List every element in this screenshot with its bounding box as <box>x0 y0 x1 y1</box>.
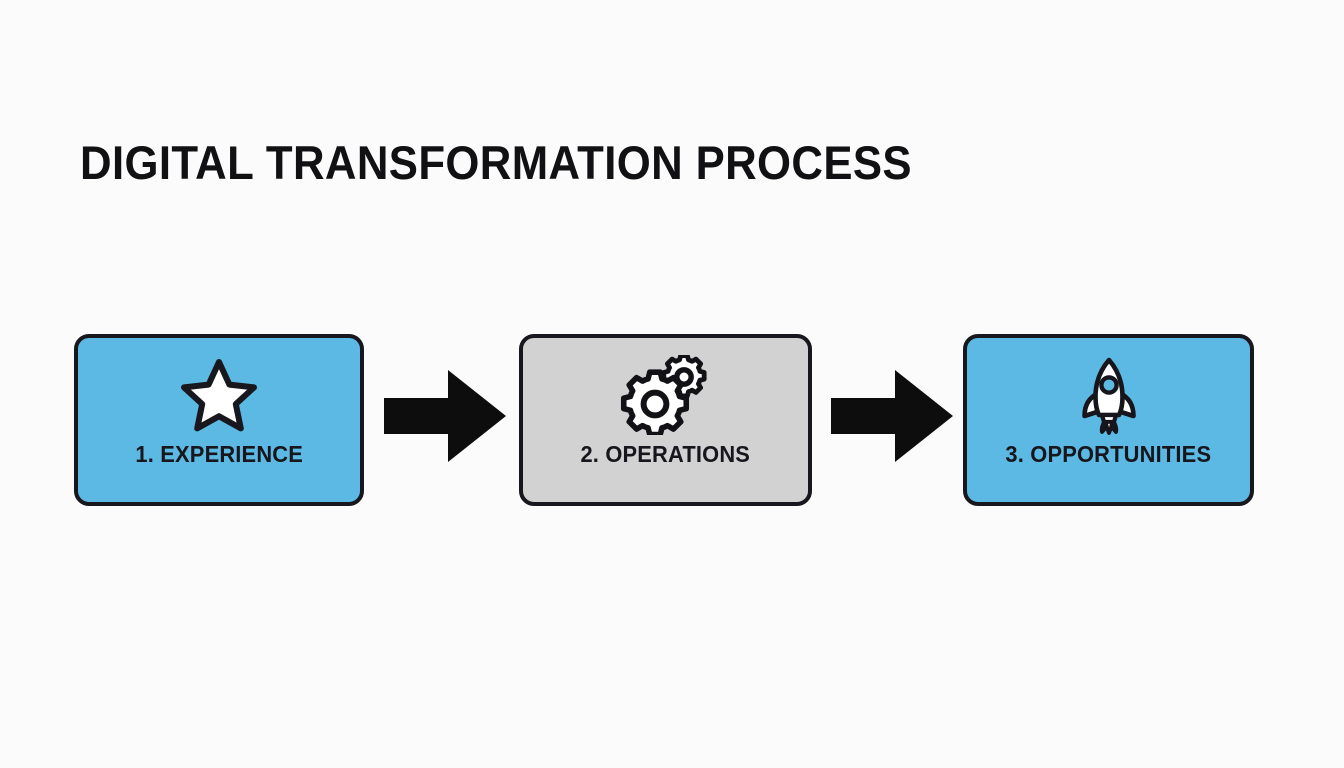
arrow-right-icon <box>831 370 953 462</box>
process-step-card-3[interactable]: 3. OPPORTUNITIES <box>963 334 1254 506</box>
process-step-label-1: 1. EXPERIENCE <box>135 441 303 468</box>
star-icon <box>181 357 257 433</box>
process-step-card-2[interactable]: 2. OPERATIONS <box>519 334 812 506</box>
gears-icon <box>618 357 714 433</box>
process-flow: 1. EXPERIENCE <box>0 334 1344 510</box>
page-title: DIGITAL TRANSFORMATION PROCESS <box>80 138 912 187</box>
process-step-label-2: 2. OPERATIONS <box>581 441 751 468</box>
rocket-icon <box>1073 357 1145 433</box>
process-step-card-1[interactable]: 1. EXPERIENCE <box>74 334 364 506</box>
process-step-label-3: 3. OPPORTUNITIES <box>1006 441 1212 468</box>
arrow-right-icon <box>384 370 506 462</box>
slide-canvas: DIGITAL TRANSFORMATION PROCESS 1. EXPERI… <box>0 0 1344 768</box>
